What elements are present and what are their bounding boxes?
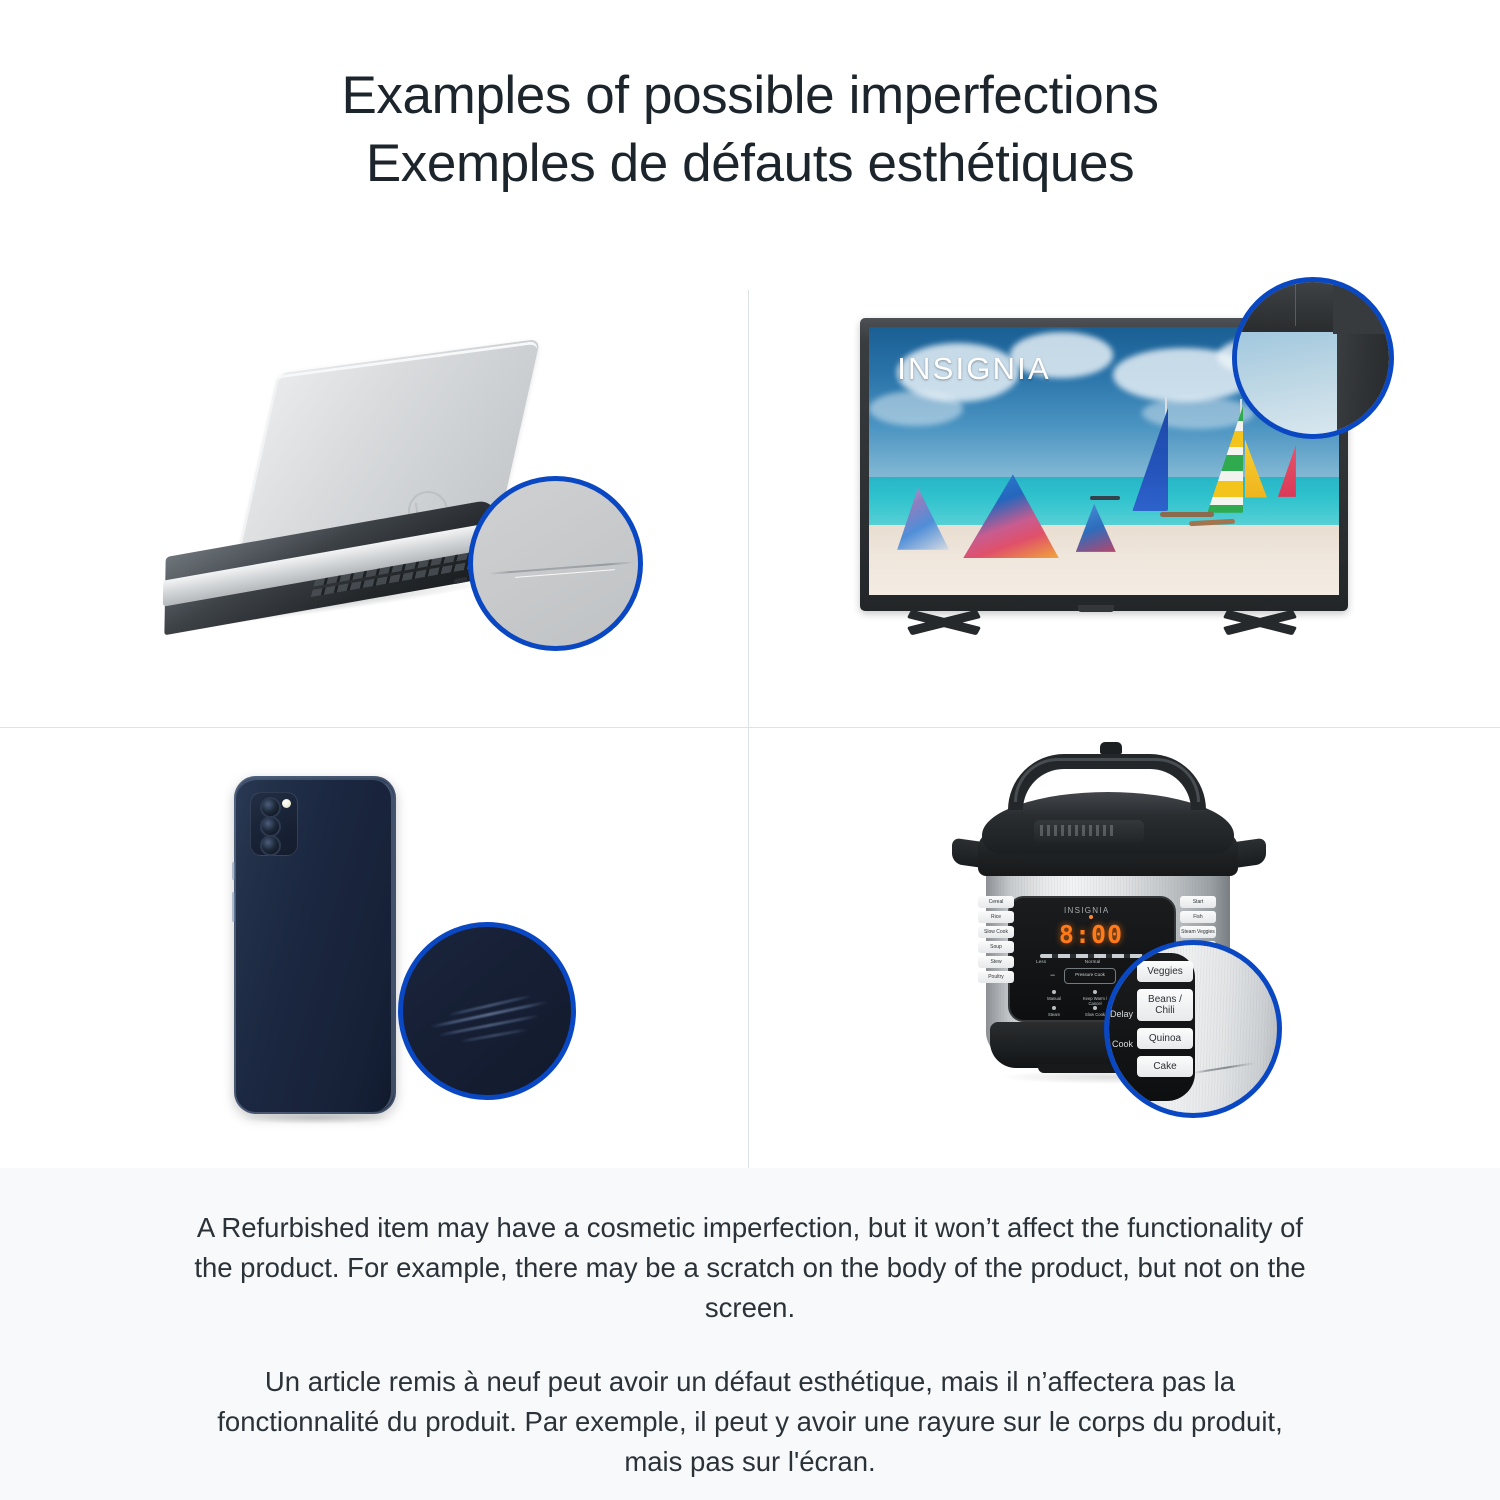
cooker-mini-key-label: Slow Cook bbox=[1085, 1012, 1105, 1017]
cooker-key[interactable]: Stew bbox=[978, 956, 1014, 968]
magnifier-phone-scratches bbox=[398, 922, 576, 1100]
magnified-cooker-key[interactable]: Quinoa bbox=[1137, 1028, 1193, 1049]
tv-brand-logo: INSIGNIA bbox=[897, 351, 1051, 387]
camera-module bbox=[250, 792, 298, 856]
magnifier-tv-corner bbox=[1232, 277, 1394, 439]
magnified-key-column: Veggies Beans / Chili Quinoa Cake bbox=[1137, 961, 1193, 1077]
magnifier-laptop-scratch bbox=[468, 476, 643, 651]
magnified-label: Slow Cook bbox=[1104, 1029, 1133, 1059]
page-title-en: Examples of possible imperfections bbox=[0, 62, 1500, 130]
phone-stage bbox=[0, 728, 748, 1177]
grid-vertical-divider bbox=[748, 290, 749, 1168]
magnified-bezel-corner bbox=[1333, 277, 1393, 334]
magnified-left-labels: Delay Slow Cook bbox=[1104, 999, 1133, 1059]
caption-english: A Refurbished item may have a cosmetic i… bbox=[185, 1208, 1315, 1328]
scratch-mark bbox=[438, 1014, 541, 1037]
boat-hull bbox=[1160, 512, 1214, 517]
cooker-mini-key[interactable]: Keep Warm / Cancel bbox=[1081, 990, 1109, 1007]
phone-power-button bbox=[232, 892, 235, 922]
camera-flash-icon bbox=[282, 799, 291, 808]
cooker-pressure-valve bbox=[1100, 742, 1122, 754]
cooker-key[interactable]: Soup bbox=[978, 941, 1014, 953]
caption-section: A Refurbished item may have a cosmetic i… bbox=[0, 1168, 1500, 1500]
magnifier-cooker-scratch: Delay Slow Cook Veggies Beans / Chili Qu… bbox=[1104, 940, 1282, 1118]
cooker-status-led bbox=[1089, 915, 1093, 919]
page-title-fr: Exemples de défauts esthétiques bbox=[0, 130, 1500, 198]
cooker-level-label: Less bbox=[1036, 959, 1046, 964]
panel-phone bbox=[0, 728, 748, 1177]
magnified-bezel-seam bbox=[1295, 277, 1296, 326]
tv-ir-module bbox=[1078, 605, 1114, 612]
cooker-key[interactable]: Slow Cook bbox=[978, 926, 1014, 938]
boat-hull bbox=[1090, 496, 1120, 500]
camera-lens-icon bbox=[260, 797, 281, 818]
cooker-key[interactable]: Start bbox=[1180, 896, 1216, 908]
cooker-mini-key-label: Keep Warm / Cancel bbox=[1083, 996, 1107, 1006]
cooker-minus-icon[interactable]: − bbox=[1050, 970, 1055, 980]
cooker-mini-key-label: Manual bbox=[1047, 996, 1061, 1001]
phone-illustration bbox=[192, 766, 442, 1136]
cooker-mini-key-label: Steam bbox=[1048, 1012, 1060, 1017]
page-header: Examples of possible imperfections Exemp… bbox=[0, 0, 1500, 198]
camera-lens-icon bbox=[260, 816, 281, 837]
camera-lens-icon bbox=[260, 835, 281, 856]
magnified-screen-content bbox=[1232, 328, 1347, 439]
cooker-key[interactable]: Rice bbox=[978, 911, 1014, 923]
cooker-brand-label: INSIGNIA bbox=[1064, 906, 1110, 915]
laptop-stage bbox=[0, 270, 748, 719]
cooker-level-label: Normal bbox=[1085, 959, 1101, 964]
cooker-key[interactable]: Fish bbox=[1180, 911, 1216, 923]
phone-volume-button bbox=[232, 862, 235, 880]
cooker-key[interactable]: Poultry bbox=[978, 971, 1014, 983]
key-indicator-dot bbox=[1052, 1006, 1056, 1010]
cooker-key[interactable]: Cereal bbox=[978, 896, 1014, 908]
cooker-lid-vent-plate bbox=[1034, 820, 1144, 842]
magnified-label: Delay bbox=[1104, 999, 1133, 1029]
panel-laptop bbox=[0, 270, 748, 719]
magnified-cooker-key[interactable]: Veggies bbox=[1137, 961, 1193, 982]
key-indicator-dot bbox=[1052, 990, 1056, 994]
cooker-mini-key[interactable]: Manual bbox=[1040, 990, 1068, 1007]
magnified-cooker-key[interactable]: Cake bbox=[1137, 1056, 1193, 1077]
key-indicator-dot bbox=[1093, 1006, 1097, 1010]
cooker-left-key-column: Cereal Rice Slow Cook Soup Stew Poultry bbox=[978, 896, 1014, 983]
cooker-lid-handle-highlight bbox=[1014, 758, 1200, 802]
caption-french: Un article remis à neuf peut avoir un dé… bbox=[185, 1362, 1315, 1482]
cooker-key[interactable]: Steam Veggies bbox=[1180, 926, 1216, 938]
magnified-cooker-key[interactable]: Beans / Chili bbox=[1137, 989, 1193, 1021]
cloud-shape bbox=[869, 391, 963, 426]
key-indicator-dot bbox=[1093, 990, 1097, 994]
cooker-mini-key[interactable]: Steam bbox=[1040, 1006, 1068, 1017]
tv-scene-sea bbox=[869, 477, 1339, 531]
